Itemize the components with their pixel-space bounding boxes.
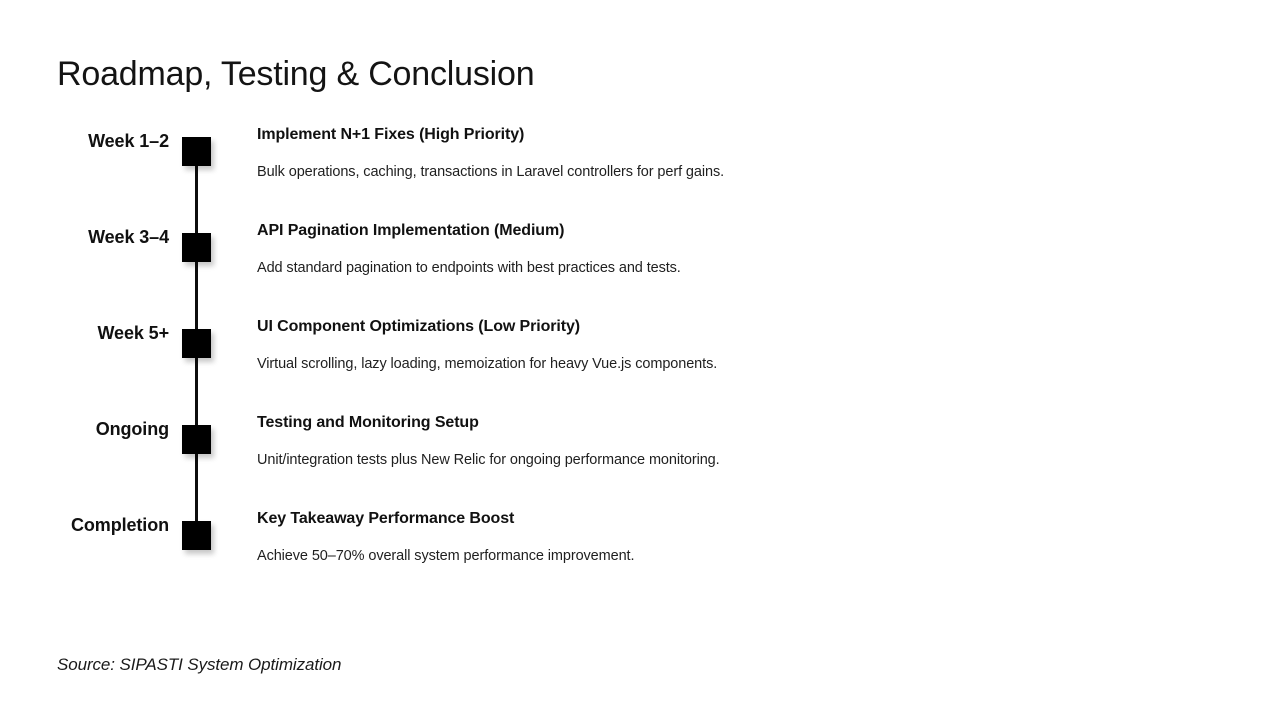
timeline-content: UI Component Optimizations (Low Priority… (225, 316, 1117, 374)
timeline-time-label: Week 5+ (57, 316, 169, 344)
timeline-description: Add standard pagination to endpoints wit… (257, 258, 1117, 278)
timeline-heading: Key Takeaway Performance Boost (257, 508, 1117, 530)
source-caption: Source: SIPASTI System Optimization (57, 655, 341, 675)
timeline-content: API Pagination Implementation (Medium) A… (225, 220, 1117, 278)
timeline-time-label: Completion (57, 508, 169, 536)
timeline-axis (169, 508, 225, 588)
timeline-square-marker-icon (182, 233, 211, 262)
timeline-axis (169, 124, 225, 220)
timeline-heading: UI Component Optimizations (Low Priority… (257, 316, 1117, 338)
timeline-time-label: Ongoing (57, 412, 169, 440)
timeline-content: Implement N+1 Fixes (High Priority) Bulk… (225, 124, 1117, 182)
timeline-item-1: Week 1–2 Implement N+1 Fixes (High Prior… (57, 124, 1117, 220)
timeline-axis (169, 220, 225, 316)
timeline-description: Achieve 50–70% overall system performanc… (257, 546, 1117, 566)
timeline-square-marker-icon (182, 521, 211, 550)
timeline-axis (169, 316, 225, 412)
timeline-square-marker-icon (182, 425, 211, 454)
timeline-heading: API Pagination Implementation (Medium) (257, 220, 1117, 242)
timeline-content: Testing and Monitoring Setup Unit/integr… (225, 412, 1117, 470)
timeline-description: Unit/integration tests plus New Relic fo… (257, 450, 1117, 470)
timeline-heading: Testing and Monitoring Setup (257, 412, 1117, 434)
timeline-square-marker-icon (182, 329, 211, 358)
page-title: Roadmap, Testing & Conclusion (57, 52, 534, 96)
timeline-square-marker-icon (182, 137, 211, 166)
timeline-item-5: Completion Key Takeaway Performance Boos… (57, 508, 1117, 588)
timeline-item-4: Ongoing Testing and Monitoring Setup Uni… (57, 412, 1117, 508)
timeline-description: Virtual scrolling, lazy loading, memoiza… (257, 354, 1117, 374)
timeline-heading: Implement N+1 Fixes (High Priority) (257, 124, 1117, 146)
timeline-item-3: Week 5+ UI Component Optimizations (Low … (57, 316, 1117, 412)
slide-canvas: Roadmap, Testing & Conclusion Week 1–2 I… (0, 0, 1280, 720)
timeline-item-2: Week 3–4 API Pagination Implementation (… (57, 220, 1117, 316)
timeline-time-label: Week 3–4 (57, 220, 169, 248)
timeline-content: Key Takeaway Performance Boost Achieve 5… (225, 508, 1117, 566)
roadmap-timeline: Week 1–2 Implement N+1 Fixes (High Prior… (57, 124, 1117, 588)
timeline-time-label: Week 1–2 (57, 124, 169, 152)
timeline-axis (169, 412, 225, 508)
timeline-description: Bulk operations, caching, transactions i… (257, 162, 1117, 182)
